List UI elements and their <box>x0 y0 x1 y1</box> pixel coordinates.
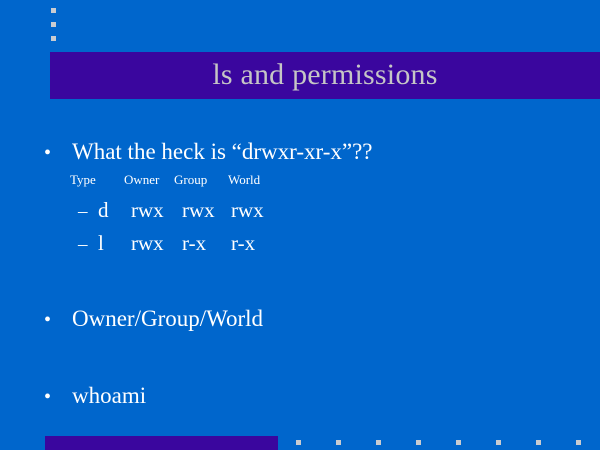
permission-table-header: TypeOwnerGroupWorld <box>70 172 280 188</box>
footer-dot-icon <box>296 440 301 445</box>
footer-dots-decoration <box>296 440 600 446</box>
header-world: World <box>228 172 280 188</box>
bullet-marker-icon: • <box>44 139 72 167</box>
bullet-item-2-label: Owner/Group/World <box>72 306 263 331</box>
permission-row: –lrwxr-xr-x <box>78 230 279 258</box>
footer-dot-icon <box>536 440 541 445</box>
dash-marker-icon: – <box>78 199 98 225</box>
bullet-item-3: •whoami <box>44 382 584 411</box>
cell-type: l <box>98 230 131 256</box>
bullet-marker-icon: • <box>44 383 72 411</box>
cell-group: r-x <box>182 230 231 256</box>
bullet-marker-icon: • <box>44 306 72 334</box>
footer-dot-icon <box>496 440 501 445</box>
header-group: Group <box>174 172 228 188</box>
footer-dot-icon <box>456 440 461 445</box>
cell-world: r-x <box>231 230 279 256</box>
cell-owner: rwx <box>131 230 182 256</box>
header-owner: Owner <box>124 172 174 188</box>
cell-type: d <box>98 197 131 223</box>
footer-dot-icon <box>576 440 581 445</box>
cell-owner: rwx <box>131 197 182 223</box>
footer-dot-icon <box>336 440 341 445</box>
footer-dot-icon <box>376 440 381 445</box>
dash-marker-icon: – <box>78 232 98 258</box>
slide-canvas: ls and permissions •What the heck is “dr… <box>0 0 600 450</box>
bullet-item-2: •Owner/Group/World <box>44 305 584 334</box>
bullet-item-3-label: whoami <box>72 383 146 408</box>
bullet-item-1-label: What the heck is “drwxr-xr-x”?? <box>72 139 372 164</box>
cell-group: rwx <box>182 197 231 223</box>
cell-world: rwx <box>231 197 279 223</box>
footer-dot-icon <box>416 440 421 445</box>
header-type: Type <box>70 172 124 188</box>
slide-body: •What the heck is “drwxr-xr-x”?? TypeOwn… <box>0 0 600 450</box>
bullet-item-1: •What the heck is “drwxr-xr-x”?? <box>44 138 584 167</box>
footer-bar <box>45 436 278 450</box>
permission-row: –drwxrwxrwx <box>78 197 279 225</box>
